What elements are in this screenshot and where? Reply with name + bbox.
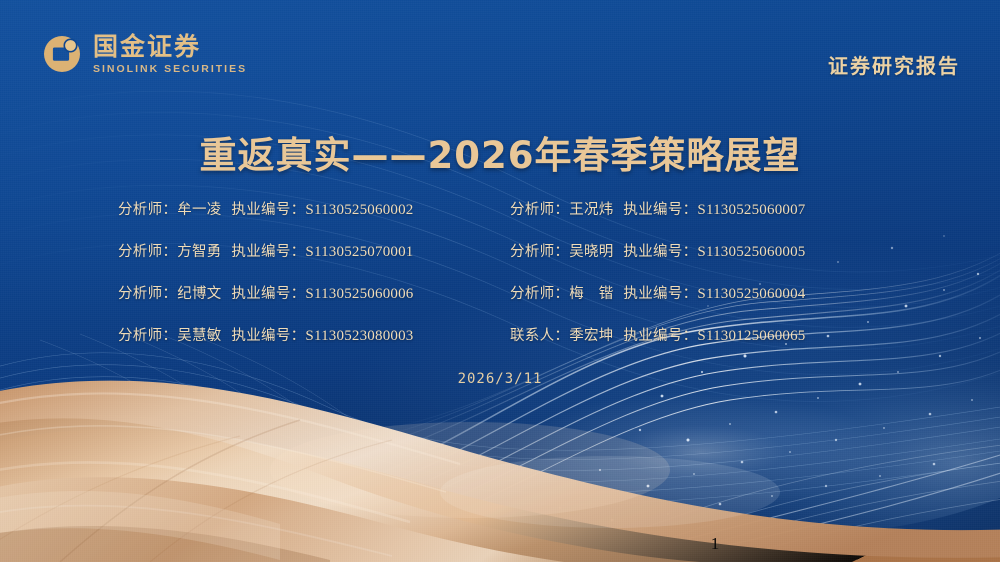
analyst-entry: 分析师：吴晓明 执业编号：S1130525060005 bbox=[510, 240, 882, 261]
analyst-label: 分析师：纪博文 执业编号： bbox=[118, 286, 305, 302]
presentation-cover-slide: 国金证券 SINOLINK SECURITIES 证券研究报告 重返真实——20… bbox=[0, 0, 1000, 562]
analyst-entry: 分析师：吴慧敏 执业编号：S1130523080003 bbox=[118, 324, 510, 345]
analyst-license-code: S1130525070001 bbox=[305, 244, 413, 260]
analyst-label: 分析师：吴晓明 执业编号： bbox=[510, 244, 697, 260]
brand-name-en: SINOLINK SECURITIES bbox=[93, 64, 247, 75]
analyst-license-code: S1130525060002 bbox=[305, 202, 413, 218]
contact-label: 联系人：季宏坤 执业编号： bbox=[510, 328, 697, 344]
contact-entry: 联系人：季宏坤 执业编号：S1130125060065 bbox=[510, 324, 882, 345]
page-number: 1 bbox=[215, 534, 1000, 554]
page-title: 重返真实——2026年春季策略展望 bbox=[0, 125, 1000, 179]
analyst-label: 分析师：牟一凌 执业编号： bbox=[118, 202, 305, 218]
analyst-license-code: S1130525060006 bbox=[305, 286, 413, 302]
slide-header: 国金证券 SINOLINK SECURITIES 证券研究报告 bbox=[0, 0, 1000, 105]
analyst-label: 分析师：王况炜 执业编号： bbox=[510, 202, 697, 218]
analyst-entry: 分析师：牟一凌 执业编号：S1130525060002 bbox=[118, 198, 510, 219]
analyst-license-code: S1130525060005 bbox=[697, 244, 805, 260]
report-type-tag: 证券研究报告 bbox=[828, 50, 960, 79]
contact-license-code: S1130125060065 bbox=[697, 328, 805, 344]
analyst-label: 分析师：梅 锴 执业编号： bbox=[510, 286, 697, 302]
publish-date: 2026/3/11 bbox=[0, 371, 1000, 387]
analyst-entry: 分析师：方智勇 执业编号：S1130525070001 bbox=[118, 240, 510, 261]
brand-name-cn: 国金证券 bbox=[93, 34, 247, 59]
analyst-entry: 分析师：王况炜 执业编号：S1130525060007 bbox=[510, 198, 882, 219]
analyst-license-code: S1130525060004 bbox=[697, 286, 805, 302]
sinolink-ring-logo-icon bbox=[42, 34, 82, 74]
analyst-license-code: S1130525060007 bbox=[697, 202, 805, 218]
analyst-list: 分析师：牟一凌 执业编号：S1130525060002 分析师：王况炜 执业编号… bbox=[118, 198, 882, 345]
analyst-license-code: S1130523080003 bbox=[305, 328, 413, 344]
analyst-label: 分析师：吴慧敏 执业编号： bbox=[118, 328, 305, 344]
analyst-label: 分析师：方智勇 执业编号： bbox=[118, 244, 305, 260]
brand-logo: 国金证券 SINOLINK SECURITIES bbox=[42, 34, 247, 75]
analyst-entry: 分析师：梅 锴 执业编号：S1130525060004 bbox=[510, 282, 882, 303]
analyst-entry: 分析师：纪博文 执业编号：S1130525060006 bbox=[118, 282, 510, 303]
